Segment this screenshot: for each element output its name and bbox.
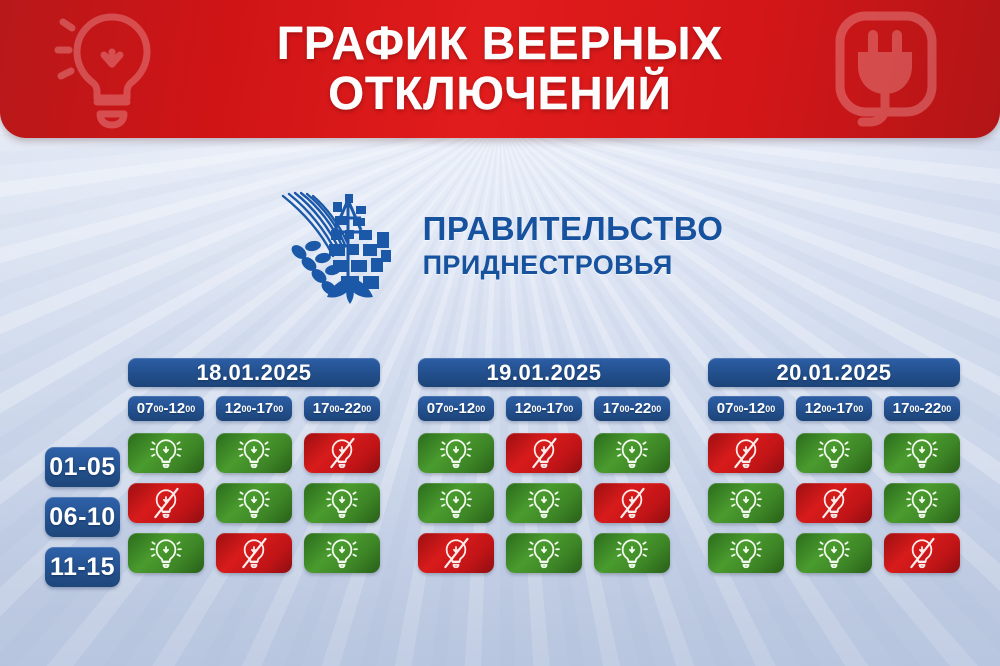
lightbulb-off-icon <box>615 486 649 520</box>
status-cell-power-on <box>884 483 960 523</box>
status-cell-power-off <box>594 483 670 523</box>
time-slot-label: 0700-1200 <box>128 396 204 421</box>
lightbulb-off-icon <box>817 486 851 520</box>
status-cell-power-on <box>216 483 292 523</box>
time-slot-label: 1700-2200 <box>304 396 380 421</box>
day-block: 20.01.20250700-12001200-17001700-2200 <box>708 358 960 583</box>
lightbulb-on-icon <box>817 436 851 470</box>
status-cell-power-on <box>594 533 670 573</box>
lightbulb-on-icon <box>149 536 183 570</box>
status-row <box>128 433 380 473</box>
lightbulb-on-icon <box>729 536 763 570</box>
status-cell-power-on <box>884 433 960 473</box>
lightbulb-on-icon <box>905 436 939 470</box>
lightbulb-off-icon <box>729 436 763 470</box>
status-row <box>418 433 670 473</box>
lightbulb-on-icon <box>615 536 649 570</box>
status-row <box>708 533 960 573</box>
status-cell-power-off <box>708 433 784 473</box>
status-cell-power-off <box>884 533 960 573</box>
status-cell-power-on <box>796 433 872 473</box>
time-slot-label: 1200-1700 <box>506 396 582 421</box>
logo-line-2: ПРИДНЕСТРОВЬЯ <box>423 252 724 279</box>
time-slot-row: 0700-12001200-17001700-2200 <box>128 396 380 421</box>
status-row <box>708 483 960 523</box>
status-cell-power-off <box>128 483 204 523</box>
pridnestrovie-coat-of-arms-icon <box>277 186 405 304</box>
status-cell-power-off <box>304 433 380 473</box>
government-logo: ПРАВИТЕЛЬСТВО ПРИДНЕСТРОВЬЯ <box>0 186 1000 304</box>
status-cell-power-off <box>796 483 872 523</box>
status-row <box>418 533 670 573</box>
status-cell-power-on <box>594 433 670 473</box>
group-labels-column: 01-05 06-10 11-15 <box>45 358 128 597</box>
day-block: 18.01.20250700-12001200-17001700-2200 <box>128 358 380 583</box>
status-cell-power-on <box>216 433 292 473</box>
power-plug-icon <box>830 8 942 137</box>
days-container: 18.01.20250700-12001200-17001700-220019.… <box>128 358 960 583</box>
time-slot-row: 0700-12001200-17001700-2200 <box>418 396 670 421</box>
time-slot-label: 1200-1700 <box>216 396 292 421</box>
status-cell-power-on <box>128 433 204 473</box>
status-grid <box>128 433 380 573</box>
status-grid <box>708 433 960 573</box>
status-cell-power-on <box>506 533 582 573</box>
logo-line-1: ПРАВИТЕЛЬСТВО <box>423 212 724 245</box>
lightbulb-on-icon <box>325 536 359 570</box>
title-line-1: ГРАФИК ВЕЕРНЫХ <box>277 17 723 69</box>
government-logo-text: ПРАВИТЕЛЬСТВО ПРИДНЕСТРОВЬЯ <box>423 212 724 279</box>
status-cell-power-on <box>418 483 494 523</box>
lightbulb-on-icon <box>237 436 271 470</box>
lightbulb-off-icon <box>439 536 473 570</box>
status-cell-power-on <box>796 533 872 573</box>
status-cell-power-on <box>708 533 784 573</box>
status-cell-power-off <box>506 433 582 473</box>
lightbulb-on-icon <box>615 436 649 470</box>
infographic-stage: ГРАФИК ВЕЕРНЫХ ОТКЛЮЧЕНИЙ <box>0 0 1000 666</box>
status-cell-power-on <box>304 533 380 573</box>
lightbulb-on-icon <box>237 486 271 520</box>
time-slot-label: 1200-1700 <box>796 396 872 421</box>
lightbulb-on-icon <box>527 536 561 570</box>
status-cell-power-off <box>418 533 494 573</box>
lightbulb-on-icon <box>527 486 561 520</box>
day-block: 19.01.20250700-12001200-17001700-2200 <box>418 358 670 583</box>
lightbulb-on-icon <box>729 486 763 520</box>
status-row <box>128 533 380 573</box>
day-date-label: 18.01.2025 <box>128 358 380 387</box>
lightbulb-on-icon <box>149 436 183 470</box>
lightbulb-off-icon <box>905 536 939 570</box>
status-cell-power-on <box>128 533 204 573</box>
group-label-01-05: 01-05 <box>45 447 120 487</box>
time-slot-label: 0700-1200 <box>418 396 494 421</box>
lightbulb-off-icon <box>149 486 183 520</box>
status-cell-power-on <box>418 433 494 473</box>
lightbulb-on-icon <box>817 536 851 570</box>
lightbulb-off-icon <box>325 436 359 470</box>
header-banner: ГРАФИК ВЕЕРНЫХ ОТКЛЮЧЕНИЙ <box>0 0 1000 138</box>
time-slot-label: 1700-2200 <box>884 396 960 421</box>
lightbulb-on-icon <box>439 486 473 520</box>
status-row <box>708 433 960 473</box>
status-grid <box>418 433 670 573</box>
status-cell-power-off <box>216 533 292 573</box>
lightbulb-on-icon <box>325 486 359 520</box>
group-label-06-10: 06-10 <box>45 497 120 537</box>
day-date-label: 20.01.2025 <box>708 358 960 387</box>
lightbulb-on-icon <box>905 486 939 520</box>
status-cell-power-on <box>304 483 380 523</box>
time-slot-row: 0700-12001200-17001700-2200 <box>708 396 960 421</box>
group-label-11-15: 11-15 <box>45 547 120 587</box>
lightbulb-on-icon <box>439 436 473 470</box>
status-row <box>418 483 670 523</box>
lightbulb-off-icon <box>527 436 561 470</box>
lightbulb-off-icon <box>237 536 271 570</box>
day-date-label: 19.01.2025 <box>418 358 670 387</box>
time-slot-label: 1700-2200 <box>594 396 670 421</box>
status-cell-power-on <box>506 483 582 523</box>
status-cell-power-on <box>708 483 784 523</box>
status-row <box>128 483 380 523</box>
time-slot-label: 0700-1200 <box>708 396 784 421</box>
outage-schedule: 01-05 06-10 11-15 18.01.20250700-1200120… <box>45 358 955 597</box>
